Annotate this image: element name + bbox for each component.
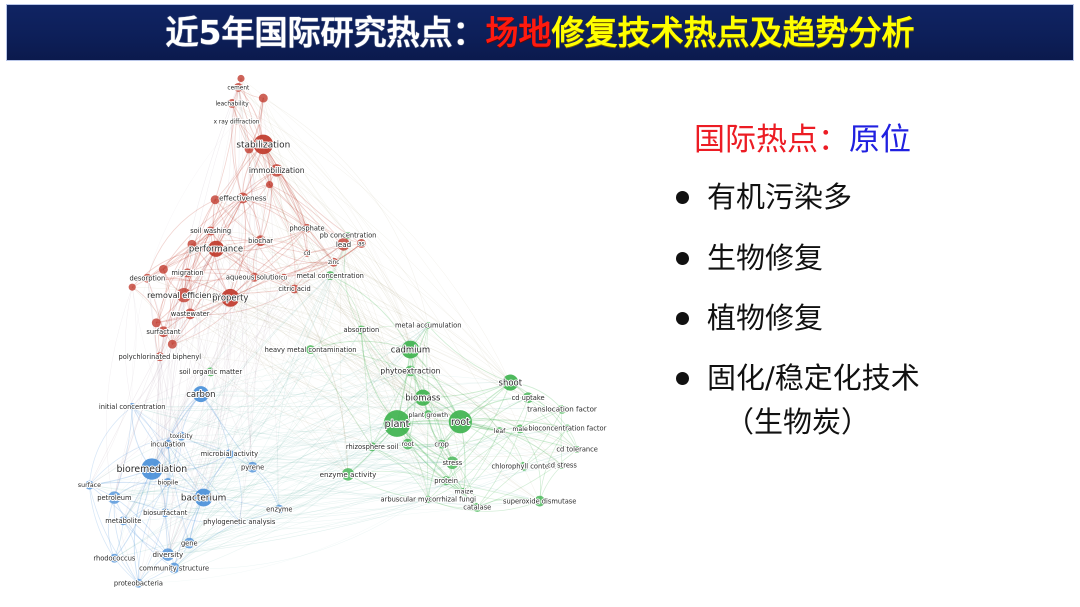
network-node-label: superoxide dismutase: [503, 497, 576, 505]
network-node-label: bioconcentration factor: [528, 424, 606, 432]
network-node-label: biopile: [158, 480, 179, 487]
network-node-label: gene: [181, 539, 198, 547]
network-node-label: property: [212, 293, 248, 303]
network-node-label: as: [358, 241, 365, 247]
network-node-label: bioremediation: [116, 464, 187, 475]
network-labels: cementleachabilityx ray diffractionstabi…: [78, 85, 607, 587]
network-node-label: crop: [434, 440, 449, 448]
slide-title-bar: 近5年国际研究热点：场地修复技术热点及趋势分析: [6, 4, 1074, 61]
list-item: 植物修复: [676, 302, 1072, 335]
network-node-label: citric acid: [278, 285, 310, 293]
network-node-label: microbial activity: [201, 450, 258, 458]
keyword-network-map: cementleachabilityx ray diffractionstabi…: [18, 66, 678, 601]
network-node-label: rhizosphere soil: [346, 443, 399, 451]
network-node-label: x ray diffraction: [214, 119, 260, 125]
network-node[interactable]: [168, 340, 177, 349]
bullet-label: 生物修复: [707, 242, 823, 275]
bullet-sublabel: （生物炭）: [725, 406, 920, 439]
network-node-label: desorption: [130, 274, 166, 282]
network-node-label: petroleum: [97, 494, 131, 502]
network-node-label: root: [451, 417, 470, 428]
title-part-white: 近5年国际研究热点：: [166, 13, 486, 52]
bullet-label: 有机污染多: [707, 181, 852, 214]
network-node-label: stress: [442, 459, 462, 467]
hotspot-heading: 国际热点：原位: [694, 122, 1072, 159]
list-item: 生物修复: [676, 242, 1072, 275]
network-node-label: enzyme activity: [320, 470, 377, 479]
bullet-dot-icon: [676, 372, 689, 385]
bullet-label: 植物修复: [707, 302, 823, 335]
network-node-label: pyrene: [241, 464, 264, 472]
network-node-label: bacterium: [181, 494, 226, 504]
bullet-dot-icon: [676, 312, 689, 325]
bullet-dot-icon: [676, 191, 689, 204]
network-node[interactable]: [159, 265, 168, 274]
network-node[interactable]: [237, 75, 244, 82]
network-node-label: cadmium: [391, 344, 430, 354]
network-node-label: metal concentration: [296, 272, 364, 280]
network-node[interactable]: [152, 318, 161, 327]
list-item: 固化/稳定化技术（生物炭）: [676, 362, 1072, 439]
network-node-label: leaf: [494, 428, 506, 435]
network-node-label: cd: [304, 251, 311, 257]
network-node[interactable]: [259, 94, 268, 103]
network-node-label: metabolite: [105, 517, 141, 525]
network-node-label: biosurfactant: [143, 509, 188, 517]
network-node-label: polychlorinated biphenyl: [119, 353, 202, 361]
hotspot-heading-red: 国际热点：: [694, 122, 849, 158]
network-node-label: protein: [434, 477, 458, 485]
network-node-label: immobilization: [249, 166, 305, 175]
network-node-label: performance: [189, 244, 243, 254]
network-node-label: metal accumulation: [395, 322, 461, 330]
network-node-label: removal efficiency: [147, 291, 221, 300]
network-node-label: plant growth: [408, 412, 448, 419]
network-node-label: cd uptake: [512, 394, 545, 402]
network-node-label: heavy metal contamination: [265, 346, 357, 354]
network-node-label: phylogenetic analysis: [203, 518, 276, 526]
network-node-label: cu: [280, 275, 287, 281]
network-node-label: male: [512, 426, 528, 433]
network-node-label: translocation factor: [527, 405, 597, 414]
network-node-label: surfactant: [146, 328, 180, 336]
network-node-label: rhodococcus: [93, 554, 136, 562]
network-node-label: catalase: [463, 504, 491, 512]
network-node-label: root: [401, 441, 414, 448]
network-node-label: plant: [385, 419, 410, 430]
network-node-label: community structure: [139, 564, 209, 572]
network-node-label: proteobacteria: [114, 579, 163, 587]
slide-canvas: 近5年国际研究热点：场地修复技术热点及趋势分析 cementleachabili…: [0, 0, 1080, 607]
network-node-label: toxicity: [170, 433, 193, 440]
network-node-label: soil organic matter: [179, 368, 242, 376]
network-node-label: cement: [227, 85, 250, 91]
network-node-label: surface: [78, 482, 101, 489]
right-text-panel: 国际热点：原位 有机污染多生物修复植物修复固化/稳定化技术（生物炭）: [676, 122, 1072, 552]
network-node-label: biomass: [405, 393, 440, 403]
network-node-label: leachability: [215, 101, 249, 107]
title-part-yellow: 修复技术热点及趋势分析: [551, 13, 914, 52]
network-node-label: initial concentration: [99, 403, 166, 411]
network-node[interactable]: [129, 284, 136, 291]
network-node-label: phytoextraction: [380, 367, 440, 376]
network-node-label: carbon: [186, 389, 215, 399]
network-node-label: enzyme: [266, 505, 292, 513]
list-item: 有机污染多: [676, 181, 1072, 214]
slide-title: 近5年国际研究热点：场地修复技术热点及趋势分析: [166, 16, 915, 49]
title-part-red: 场地: [485, 13, 551, 52]
bullet-dot-icon: [676, 252, 689, 265]
network-node-label: biochar: [248, 237, 273, 245]
network-node-label: shoot: [499, 377, 523, 387]
network-node-label: maize: [455, 488, 474, 495]
network-node[interactable]: [266, 181, 273, 188]
network-node-label: effectiveness: [219, 193, 267, 202]
network-node-label: diversity: [153, 550, 184, 559]
network-svg: cementleachabilityx ray diffractionstabi…: [18, 66, 678, 601]
network-node-label: soil washing: [190, 227, 231, 235]
network-node-label: lead: [336, 240, 351, 249]
network-node-label: stabilization: [236, 140, 290, 150]
hotspot-heading-blue: 原位: [849, 122, 911, 158]
network-node-label: arbuscular mycorrhizal fungi: [381, 496, 477, 504]
hotspot-bullet-list: 有机污染多生物修复植物修复固化/稳定化技术（生物炭）: [676, 181, 1072, 439]
network-node-label: migration: [171, 269, 203, 277]
network-node-label: cd stress: [547, 462, 577, 470]
network-node-label: absorption: [344, 326, 380, 334]
network-node-label: pb concentration: [320, 232, 377, 240]
network-node-label: wastewater: [171, 310, 210, 318]
network-node-label: incubation: [150, 440, 185, 448]
network-node-label: aqueous solution: [226, 274, 283, 282]
bullet-label: 固化/稳定化技术: [707, 362, 920, 395]
network-node-label: cd tolerance: [556, 446, 598, 454]
network-node-label: zinc: [328, 260, 339, 266]
